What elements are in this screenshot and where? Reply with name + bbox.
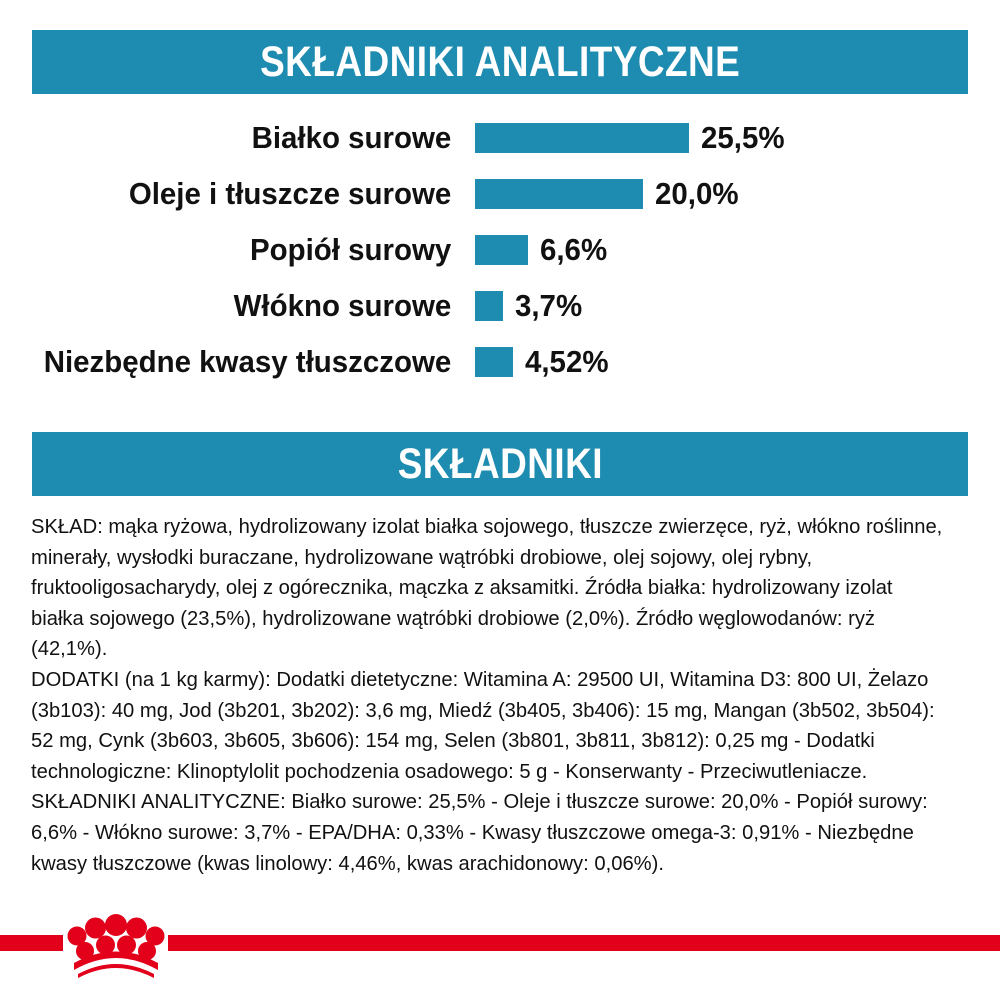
footer-brand-strip xyxy=(0,900,1000,1000)
chart-bar xyxy=(475,123,689,153)
chart-bar-group: 20,0% xyxy=(475,176,743,212)
chart-value-label: 4,52% xyxy=(525,344,609,380)
ingredients-title: SKŁADNIKI xyxy=(397,440,602,489)
chart-bar-group: 4,52% xyxy=(475,344,613,380)
chart-bar xyxy=(475,235,528,265)
chart-bar-group: 25,5% xyxy=(475,120,789,156)
ingredients-paragraph: SKŁAD: mąka ryżowa, hydrolizowany izolat… xyxy=(31,512,947,665)
chart-value-label: 20,0% xyxy=(655,176,739,212)
chart-value-label: 25,5% xyxy=(701,120,785,156)
red-stripe-right xyxy=(168,935,1000,951)
chart-row: Popiół surowy6,6% xyxy=(0,228,1000,272)
chart-bar-group: 6,6% xyxy=(475,232,611,268)
chart-row-label: Niezbędne kwasy tłuszczowe xyxy=(24,344,475,380)
chart-row: Włókno surowe3,7% xyxy=(0,284,1000,328)
chart-row-label: Popiół surowy xyxy=(24,232,475,268)
chart-row: Białko surowe25,5% xyxy=(0,116,1000,160)
chart-value-label: 3,7% xyxy=(515,288,582,324)
chart-row-label: Białko surowe xyxy=(24,120,475,156)
chart-row-label: Oleje i tłuszcze surowe xyxy=(24,176,475,212)
chart-value-label: 6,6% xyxy=(540,232,607,268)
analytical-constituents-chart: Białko surowe25,5%Oleje i tłuszcze surow… xyxy=(0,116,1000,416)
red-stripe-left xyxy=(0,935,63,951)
chart-row: Niezbędne kwasy tłuszczowe4,52% xyxy=(0,340,1000,384)
ingredients-paragraph: DODATKI (na 1 kg karmy): Dodatki dietety… xyxy=(31,665,947,787)
chart-bar xyxy=(475,291,503,321)
ingredients-body-text: SKŁAD: mąka ryżowa, hydrolizowany izolat… xyxy=(31,512,947,879)
royal-canin-crown-logo xyxy=(60,910,172,982)
chart-bar-group: 3,7% xyxy=(475,288,586,324)
chart-bar xyxy=(475,179,643,209)
chart-row-label: Włókno surowe xyxy=(24,288,475,324)
ingredients-header: SKŁADNIKI xyxy=(32,432,968,496)
chart-row: Oleje i tłuszcze surowe20,0% xyxy=(0,172,1000,216)
chart-bar xyxy=(475,347,513,377)
analytical-constituents-title: SKŁADNIKI ANALITYCZNE xyxy=(260,38,740,87)
analytical-constituents-header: SKŁADNIKI ANALITYCZNE xyxy=(32,30,968,94)
ingredients-paragraph: SKŁADNIKI ANALITYCZNE: Białko surowe: 25… xyxy=(31,787,947,879)
